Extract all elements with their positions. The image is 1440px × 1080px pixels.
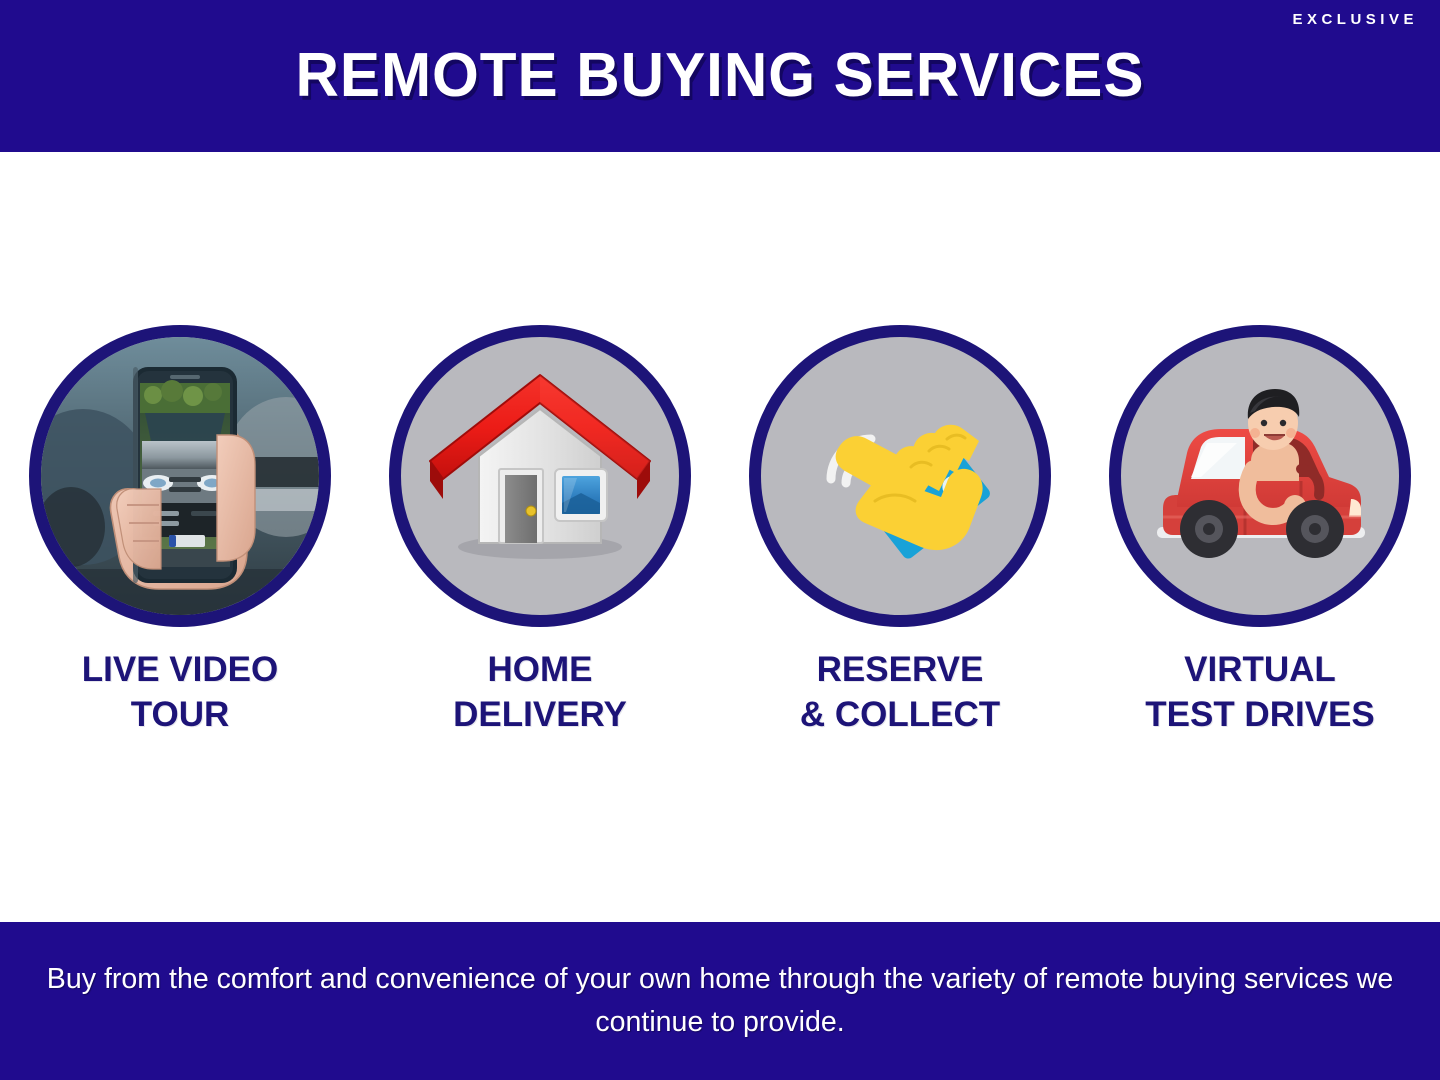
badge-home-delivery [389,325,691,627]
car-with-driver-icon [1133,349,1388,604]
service-label-reserve-collect: RESERVE & COLLECT [800,647,1000,737]
house-icon [415,351,665,601]
service-label-line2: TOUR [131,695,230,734]
service-label-home-delivery: HOME DELIVERY [453,647,627,737]
service-card-virtual-test-drives[interactable]: VIRTUAL TEST DRIVES [1080,325,1440,755]
page-title: REMOTE BUYING SERVICES [22,44,1419,108]
service-label-line2: TEST DRIVES [1145,695,1374,734]
service-label-line1: LIVE VIDEO [82,650,278,689]
header-band: EXCLUSIVE REMOTE BUYING SERVICES [0,0,1440,152]
tap-hand-icon [775,351,1025,601]
service-label-live-video-tour: LIVE VIDEO TOUR [82,647,278,737]
service-card-live-video-tour[interactable]: LIVE VIDEO TOUR [0,325,360,755]
slide-root: EXCLUSIVE REMOTE BUYING SERVICES [0,0,1440,1080]
footer-band: Buy from the comfort and convenience of … [0,922,1440,1080]
service-label-line1: VIRTUAL [1184,650,1336,689]
service-label-virtual-test-drives: VIRTUAL TEST DRIVES [1145,647,1374,737]
service-label-line2: & COLLECT [800,695,1000,734]
service-label-line2: DELIVERY [453,695,627,734]
service-card-reserve-collect[interactable]: RESERVE & COLLECT [720,325,1080,755]
service-label-line1: HOME [488,650,593,689]
badge-virtual-test-drives [1109,325,1411,627]
brand-tag: EXCLUSIVE [1292,11,1418,28]
badge-reserve-collect [749,325,1051,627]
footer-message: Buy from the comfort and convenience of … [21,958,1420,1044]
services-row: LIVE VIDEO TOUR [0,325,1440,755]
phone-in-hand-car-photo-icon [41,337,319,615]
service-card-home-delivery[interactable]: HOME DELIVERY [360,325,720,755]
badge-live-video-tour [29,325,331,627]
service-label-line1: RESERVE [817,650,984,689]
